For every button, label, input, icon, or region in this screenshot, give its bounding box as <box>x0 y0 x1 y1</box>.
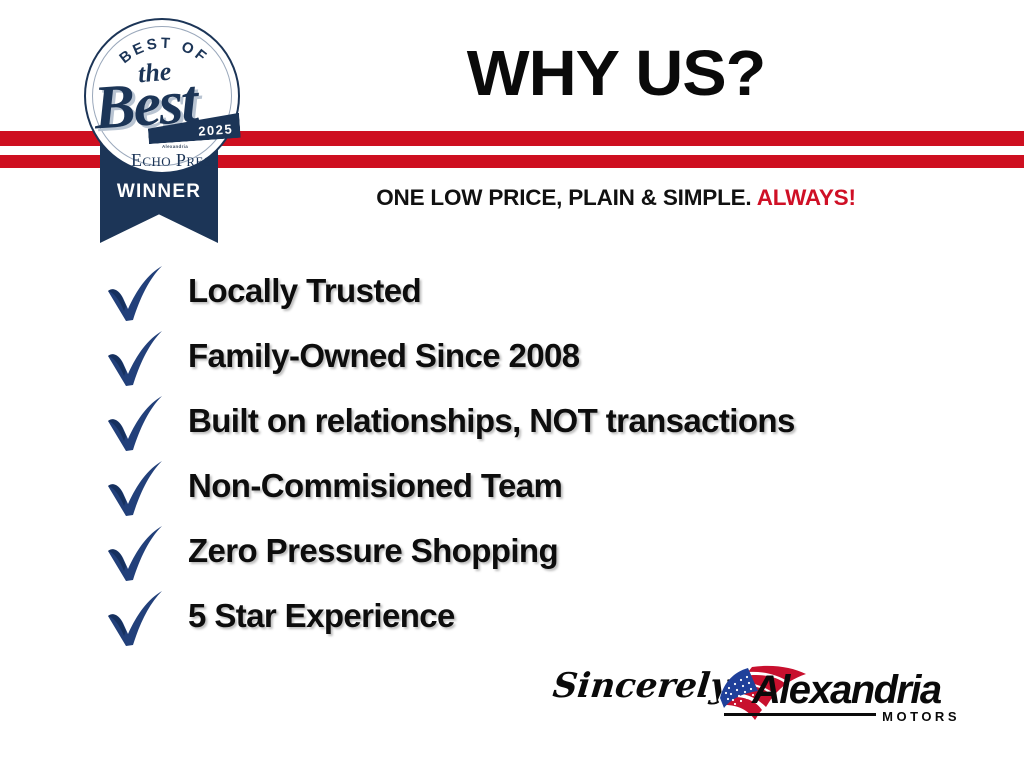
subtitle-tagline: ONE LOW PRICE, PLAIN & SIMPLE. ALWAYS! <box>236 185 996 211</box>
check-icon <box>104 395 166 453</box>
list-item-label: Family-Owned Since 2008 <box>188 337 580 375</box>
list-item: Zero Pressure Shopping <box>104 523 1004 588</box>
benefits-list: Locally Trusted Family-Owned Since 2008 … <box>104 263 1004 653</box>
why-us-slide: { "header": { "title": "WHY US?", "subti… <box>0 0 1024 768</box>
badge-disc: BEST OF the Best 2025 Alexandria Echo Pr… <box>84 18 240 174</box>
badge-source-publication: Echo Press <box>110 150 240 171</box>
list-item: 5 Star Experience <box>104 588 1004 653</box>
dealer-name-label: Alexandria <box>752 668 941 713</box>
list-item-label: Locally Trusted <box>188 272 421 310</box>
list-item: Locally Trusted <box>104 263 1004 328</box>
check-icon <box>104 525 166 583</box>
list-item-label: 5 Star Experience <box>188 597 455 635</box>
list-item-label: Built on relationships, NOT transactions <box>188 402 795 440</box>
list-item: Built on relationships, NOT transactions <box>104 393 1004 458</box>
check-icon <box>104 265 166 323</box>
page-title: WHY US? <box>221 41 1011 105</box>
list-item-label: Zero Pressure Shopping <box>188 532 558 570</box>
list-item: Family-Owned Since 2008 <box>104 328 1004 393</box>
best-of-the-best-badge: WINNER BEST OF the Best 2025 Alexandria … <box>66 8 282 240</box>
check-icon <box>104 460 166 518</box>
subtitle-main-text: ONE LOW PRICE, PLAIN & SIMPLE. <box>376 185 751 210</box>
check-icon <box>104 330 166 388</box>
winner-ribbon-label: WINNER <box>100 181 218 203</box>
check-icon <box>104 590 166 648</box>
list-item: Non-Commisioned Team <box>104 458 1004 523</box>
dealer-sub-label: MOTORS <box>876 709 960 724</box>
dealer-logo: Alexandria MOTORS <box>712 660 962 728</box>
list-item-label: Non-Commisioned Team <box>188 467 562 505</box>
badge-source-locality: Alexandria <box>130 144 220 149</box>
badge-year-label: 2025 <box>198 121 234 138</box>
subtitle-accent-text: ALWAYS! <box>757 185 856 210</box>
